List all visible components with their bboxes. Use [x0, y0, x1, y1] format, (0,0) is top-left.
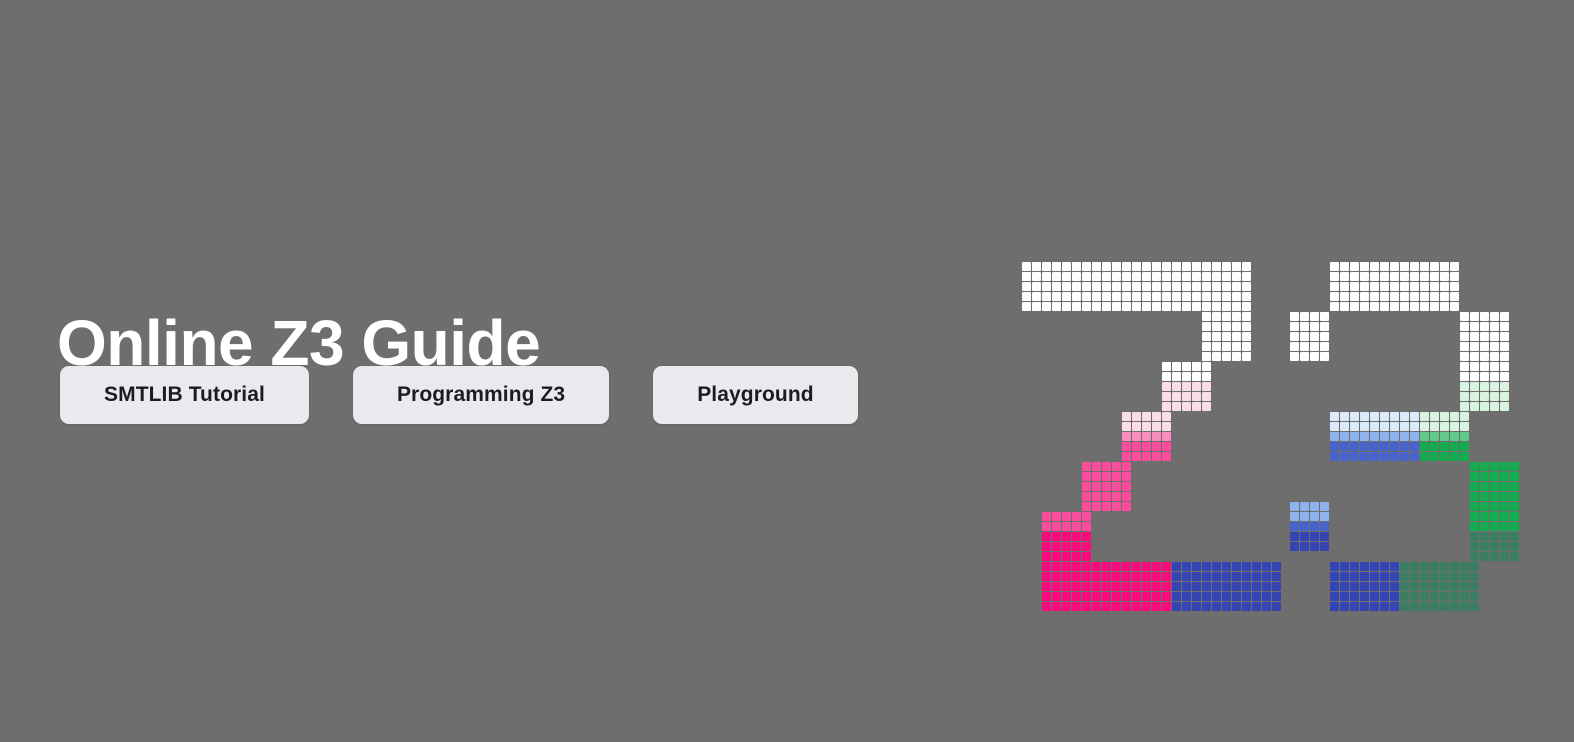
pixel-cell	[1380, 262, 1389, 271]
pixel-cell	[1310, 342, 1319, 351]
pixel-cell	[1330, 272, 1339, 281]
pixel-cell	[1182, 372, 1191, 381]
pixel-cell	[1410, 582, 1419, 591]
pixel-cell	[1042, 522, 1051, 531]
pixel-cell	[1320, 532, 1329, 541]
pixel-cell	[1360, 292, 1369, 301]
pixel-cell	[1370, 412, 1379, 421]
pixel-cell	[1350, 412, 1359, 421]
pixel-cell	[1400, 602, 1409, 611]
pixel-cell	[1232, 272, 1241, 281]
pixel-cell	[1340, 452, 1349, 461]
z3-pixel-logo	[1022, 262, 1514, 582]
pixel-cell	[1132, 412, 1141, 421]
pixel-cell	[1510, 482, 1519, 491]
pixel-cell	[1142, 582, 1151, 591]
pixel-cell	[1082, 582, 1091, 591]
pixel-cell	[1062, 552, 1071, 561]
pixel-cell	[1122, 492, 1131, 501]
pixel-cell	[1470, 402, 1479, 411]
pixel-cell	[1480, 512, 1489, 521]
pixel-cell	[1450, 432, 1459, 441]
pixel-cell	[1112, 572, 1121, 581]
hero-section: Online Z3 Guide SMTLIB Tutorial Programm…	[0, 0, 1000, 742]
pixel-cell	[1222, 332, 1231, 341]
pixel-cell	[1232, 332, 1241, 341]
pixel-cell	[1052, 512, 1061, 521]
pixel-cell	[1172, 562, 1181, 571]
pixel-cell	[1460, 332, 1469, 341]
pixel-cell	[1162, 432, 1171, 441]
pixel-cell	[1212, 562, 1221, 571]
pixel-cell	[1490, 362, 1499, 371]
pixel-cell	[1480, 462, 1489, 471]
pixel-cell	[1310, 502, 1319, 511]
pixel-cell	[1480, 322, 1489, 331]
pixel-cell	[1470, 312, 1479, 321]
pixel-cell	[1460, 422, 1469, 431]
pixel-cell	[1430, 572, 1439, 581]
pixel-cell	[1212, 272, 1221, 281]
pixel-cell	[1330, 412, 1339, 421]
pixel-cell	[1410, 412, 1419, 421]
pixel-cell	[1350, 592, 1359, 601]
pixel-cell	[1052, 282, 1061, 291]
pixel-cell	[1072, 562, 1081, 571]
pixel-cell	[1202, 602, 1211, 611]
pixel-cell	[1212, 582, 1221, 591]
pixel-cell	[1470, 382, 1479, 391]
pixel-cell	[1102, 262, 1111, 271]
pixel-cell	[1430, 582, 1439, 591]
pixel-cell	[1162, 422, 1171, 431]
pixel-cell	[1202, 562, 1211, 571]
pixel-cell	[1500, 332, 1509, 341]
pixel-cell	[1420, 592, 1429, 601]
pixel-cell	[1490, 352, 1499, 361]
pixel-cell	[1470, 392, 1479, 401]
pixel-cell	[1490, 502, 1499, 511]
pixel-cell	[1500, 312, 1509, 321]
pixel-cell	[1202, 382, 1211, 391]
pixel-cell	[1182, 282, 1191, 291]
pixel-cell	[1460, 342, 1469, 351]
pixel-cell	[1340, 412, 1349, 421]
pixel-cell	[1142, 452, 1151, 461]
pixel-cell	[1122, 432, 1131, 441]
pixel-cell	[1440, 592, 1449, 601]
pixel-cell	[1430, 452, 1439, 461]
pixel-cell	[1470, 372, 1479, 381]
pixel-cell	[1330, 442, 1339, 451]
pixel-cell	[1330, 562, 1339, 571]
pixel-cell	[1172, 392, 1181, 401]
pixel-cell	[1340, 602, 1349, 611]
pixel-cell	[1162, 402, 1171, 411]
pixel-cell	[1182, 402, 1191, 411]
pixel-cell	[1142, 412, 1151, 421]
pixel-cell	[1450, 602, 1459, 611]
pixel-cell	[1460, 412, 1469, 421]
pixel-cell	[1132, 582, 1141, 591]
pixel-cell	[1450, 292, 1459, 301]
pixel-cell	[1420, 432, 1429, 441]
pixel-cell	[1202, 582, 1211, 591]
pixel-cell	[1360, 452, 1369, 461]
pixel-cell	[1360, 412, 1369, 421]
pixel-cell	[1470, 502, 1479, 511]
pixel-cell	[1242, 342, 1251, 351]
pixel-cell	[1032, 292, 1041, 301]
pixel-cell	[1470, 332, 1479, 341]
pixel-cell	[1102, 592, 1111, 601]
pixel-cell	[1330, 582, 1339, 591]
pixel-cell	[1202, 292, 1211, 301]
pixel-cell	[1172, 302, 1181, 311]
pixel-cell	[1132, 282, 1141, 291]
pixel-cell	[1052, 582, 1061, 591]
pixel-cell	[1330, 572, 1339, 581]
pixel-cell	[1420, 602, 1429, 611]
pixel-cell	[1152, 572, 1161, 581]
pixel-cell	[1340, 562, 1349, 571]
pixel-cell	[1360, 272, 1369, 281]
pixel-cell	[1380, 562, 1389, 571]
pixel-cell	[1142, 292, 1151, 301]
pixel-cell	[1490, 472, 1499, 481]
pixel-cell	[1072, 272, 1081, 281]
pixel-cell	[1112, 272, 1121, 281]
pixel-cell	[1142, 562, 1151, 571]
pixel-cell	[1370, 602, 1379, 611]
pixel-cell	[1082, 262, 1091, 271]
pixel-cell	[1232, 352, 1241, 361]
pixel-cell	[1192, 372, 1201, 381]
pixel-cell	[1370, 432, 1379, 441]
pixel-cell	[1390, 572, 1399, 581]
pixel-cell	[1330, 452, 1339, 461]
pixel-cell	[1122, 562, 1131, 571]
pixel-cell	[1430, 302, 1439, 311]
pixel-cell	[1262, 572, 1271, 581]
pixel-cell	[1202, 402, 1211, 411]
pixel-cell	[1082, 542, 1091, 551]
pixel-cell	[1072, 552, 1081, 561]
pixel-cell	[1450, 582, 1459, 591]
pixel-cell	[1330, 282, 1339, 291]
pixel-cell	[1082, 532, 1091, 541]
pixel-cell	[1300, 542, 1309, 551]
pixel-cell	[1300, 312, 1309, 321]
pixel-cell	[1112, 472, 1121, 481]
pixel-cell	[1500, 552, 1509, 561]
pixel-cell	[1480, 492, 1489, 501]
pixel-cell	[1380, 602, 1389, 611]
pixel-cell	[1092, 572, 1101, 581]
pixel-cell	[1390, 452, 1399, 461]
pixel-cell	[1400, 262, 1409, 271]
pixel-cell	[1062, 282, 1071, 291]
pixel-cell	[1252, 592, 1261, 601]
pixel-cell	[1162, 292, 1171, 301]
pixel-cell	[1192, 272, 1201, 281]
pixel-cell	[1032, 282, 1041, 291]
pixel-cell	[1420, 292, 1429, 301]
pixel-cell	[1490, 532, 1499, 541]
pixel-cell	[1470, 602, 1479, 611]
pixel-cell	[1500, 362, 1509, 371]
pixel-cell	[1500, 512, 1509, 521]
pixel-cell	[1122, 452, 1131, 461]
pixel-cell	[1192, 562, 1201, 571]
pixel-cell	[1310, 542, 1319, 551]
pixel-cell	[1360, 592, 1369, 601]
pixel-cell	[1142, 262, 1151, 271]
pixel-cell	[1440, 292, 1449, 301]
pixel-cell	[1500, 492, 1509, 501]
pixel-cell	[1440, 572, 1449, 581]
pixel-cell	[1062, 542, 1071, 551]
pixel-cell	[1370, 452, 1379, 461]
pixel-cell	[1300, 352, 1309, 361]
pixel-cell	[1222, 562, 1231, 571]
pixel-cell	[1460, 312, 1469, 321]
pixel-cell	[1300, 342, 1309, 351]
pixel-cell	[1242, 562, 1251, 571]
pixel-cell	[1032, 272, 1041, 281]
pixel-cell	[1152, 582, 1161, 591]
pixel-cell	[1162, 452, 1171, 461]
pixel-cell	[1222, 312, 1231, 321]
pixel-cell	[1390, 422, 1399, 431]
pixel-cell	[1082, 462, 1091, 471]
pixel-cell	[1042, 572, 1051, 581]
pixel-cell	[1490, 332, 1499, 341]
pixel-cell	[1122, 262, 1131, 271]
pixel-cell	[1430, 602, 1439, 611]
pixel-cell	[1042, 562, 1051, 571]
pixel-cell	[1330, 602, 1339, 611]
pixel-cell	[1272, 562, 1281, 571]
pixel-cell	[1370, 292, 1379, 301]
pixel-cell	[1092, 592, 1101, 601]
pixel-cell	[1222, 592, 1231, 601]
pixel-cell	[1500, 402, 1509, 411]
pixel-cell	[1102, 482, 1111, 491]
pixel-cell	[1182, 392, 1191, 401]
pixel-cell	[1490, 512, 1499, 521]
pixel-cell	[1092, 282, 1101, 291]
pixel-cell	[1172, 572, 1181, 581]
pixel-cell	[1340, 432, 1349, 441]
pixel-cell	[1500, 532, 1509, 541]
pixel-cell	[1112, 582, 1121, 591]
pixel-cell	[1350, 422, 1359, 431]
pixel-cell	[1420, 302, 1429, 311]
pixel-cell	[1470, 482, 1479, 491]
pixel-cell	[1142, 592, 1151, 601]
pixel-cell	[1350, 302, 1359, 311]
pixel-cell	[1132, 432, 1141, 441]
pixel-cell	[1182, 272, 1191, 281]
pixel-cell	[1152, 302, 1161, 311]
pixel-cell	[1112, 292, 1121, 301]
programming-z3-button[interactable]: Programming Z3	[353, 366, 609, 424]
pixel-cell	[1052, 302, 1061, 311]
pixel-cell	[1380, 272, 1389, 281]
pixel-cell	[1072, 532, 1081, 541]
pixel-cell	[1300, 532, 1309, 541]
pixel-cell	[1330, 262, 1339, 271]
pixel-cell	[1350, 442, 1359, 451]
pixel-cell	[1142, 422, 1151, 431]
pixel-cell	[1400, 272, 1409, 281]
pixel-cell	[1460, 362, 1469, 371]
pixel-cell	[1470, 342, 1479, 351]
pixel-cell	[1092, 482, 1101, 491]
pixel-cell	[1122, 602, 1131, 611]
pixel-cell	[1350, 282, 1359, 291]
pixel-cell	[1162, 592, 1171, 601]
pixel-cell	[1510, 552, 1519, 561]
pixel-cell	[1072, 592, 1081, 601]
pixel-cell	[1152, 452, 1161, 461]
pixel-cell	[1490, 522, 1499, 531]
pixel-cell	[1252, 572, 1261, 581]
pixel-cell	[1490, 312, 1499, 321]
pixel-cell	[1390, 562, 1399, 571]
pixel-cell	[1430, 432, 1439, 441]
pixel-cell	[1192, 592, 1201, 601]
pixel-cell	[1102, 492, 1111, 501]
pixel-cell	[1182, 562, 1191, 571]
pixel-cell	[1052, 602, 1061, 611]
pixel-cell	[1182, 382, 1191, 391]
pixel-cell	[1142, 602, 1151, 611]
pixel-cell	[1202, 342, 1211, 351]
pixel-cell	[1310, 522, 1319, 531]
pixel-cell	[1400, 302, 1409, 311]
pixel-cell	[1202, 312, 1211, 321]
pixel-cell	[1460, 602, 1469, 611]
smtlib-tutorial-button[interactable]: SMTLIB Tutorial	[60, 366, 309, 424]
pixel-cell	[1142, 572, 1151, 581]
pixel-cell	[1052, 532, 1061, 541]
pixel-cell	[1440, 432, 1449, 441]
pixel-cell	[1440, 582, 1449, 591]
pixel-cell	[1072, 282, 1081, 291]
pixel-cell	[1410, 442, 1419, 451]
pixel-cell	[1410, 592, 1419, 601]
pixel-cell	[1450, 302, 1459, 311]
playground-button[interactable]: Playground	[653, 366, 858, 424]
pixel-cell	[1082, 472, 1091, 481]
pixel-cell	[1480, 502, 1489, 511]
pixel-cell	[1460, 432, 1469, 441]
pixel-cell	[1042, 582, 1051, 591]
pixel-cell	[1490, 482, 1499, 491]
pixel-cell	[1380, 572, 1389, 581]
pixel-cell	[1152, 432, 1161, 441]
pixel-cell	[1460, 352, 1469, 361]
pixel-cell	[1052, 592, 1061, 601]
pixel-cell	[1202, 362, 1211, 371]
pixel-cell	[1162, 282, 1171, 291]
pixel-cell	[1460, 562, 1469, 571]
pixel-cell	[1470, 352, 1479, 361]
pixel-cell	[1290, 332, 1299, 341]
pixel-cell	[1112, 602, 1121, 611]
pixel-cell	[1480, 522, 1489, 531]
pixel-cell	[1062, 602, 1071, 611]
pixel-cell	[1440, 282, 1449, 291]
pixel-cell	[1092, 602, 1101, 611]
pixel-cell	[1082, 552, 1091, 561]
pixel-cell	[1340, 272, 1349, 281]
pixel-cell	[1330, 432, 1339, 441]
pixel-cell	[1480, 472, 1489, 481]
pixel-cell	[1202, 272, 1211, 281]
pixel-cell	[1440, 602, 1449, 611]
pixel-cell	[1052, 272, 1061, 281]
pixel-cell	[1350, 572, 1359, 581]
pixel-cell	[1360, 302, 1369, 311]
pixel-cell	[1400, 432, 1409, 441]
pixel-cell	[1182, 572, 1191, 581]
pixel-cell	[1320, 312, 1329, 321]
pixel-cell	[1052, 552, 1061, 561]
pixel-cell	[1400, 412, 1409, 421]
pixel-cell	[1122, 292, 1131, 301]
pixel-cell	[1142, 432, 1151, 441]
pixel-cell	[1410, 432, 1419, 441]
pixel-cell	[1450, 282, 1459, 291]
pixel-cell	[1242, 302, 1251, 311]
pixel-cell	[1490, 402, 1499, 411]
pixel-cell	[1350, 452, 1359, 461]
pixel-cell	[1092, 292, 1101, 301]
pixel-cell	[1410, 452, 1419, 461]
pixel-cell	[1162, 262, 1171, 271]
pixel-cell	[1212, 602, 1221, 611]
pixel-cell	[1042, 592, 1051, 601]
pixel-cell	[1162, 442, 1171, 451]
pixel-cell	[1450, 272, 1459, 281]
pixel-cell	[1320, 542, 1329, 551]
pixel-cell	[1290, 532, 1299, 541]
pixel-cell	[1500, 482, 1509, 491]
pixel-cell	[1082, 592, 1091, 601]
pixel-cell	[1092, 582, 1101, 591]
pixel-cell	[1202, 572, 1211, 581]
pixel-cell	[1420, 422, 1429, 431]
pixel-cell	[1380, 442, 1389, 451]
pixel-cell	[1242, 292, 1251, 301]
pixel-cell	[1460, 592, 1469, 601]
pixel-cell	[1320, 512, 1329, 521]
pixel-cell	[1242, 262, 1251, 271]
pixel-cell	[1300, 502, 1309, 511]
pixel-cell	[1062, 302, 1071, 311]
pixel-cell	[1430, 592, 1439, 601]
pixel-cell	[1182, 602, 1191, 611]
pixel-cell	[1340, 572, 1349, 581]
pixel-cell	[1430, 442, 1439, 451]
pixel-cell	[1092, 262, 1101, 271]
pixel-cell	[1300, 322, 1309, 331]
pixel-cell	[1350, 432, 1359, 441]
pixel-cell	[1430, 272, 1439, 281]
